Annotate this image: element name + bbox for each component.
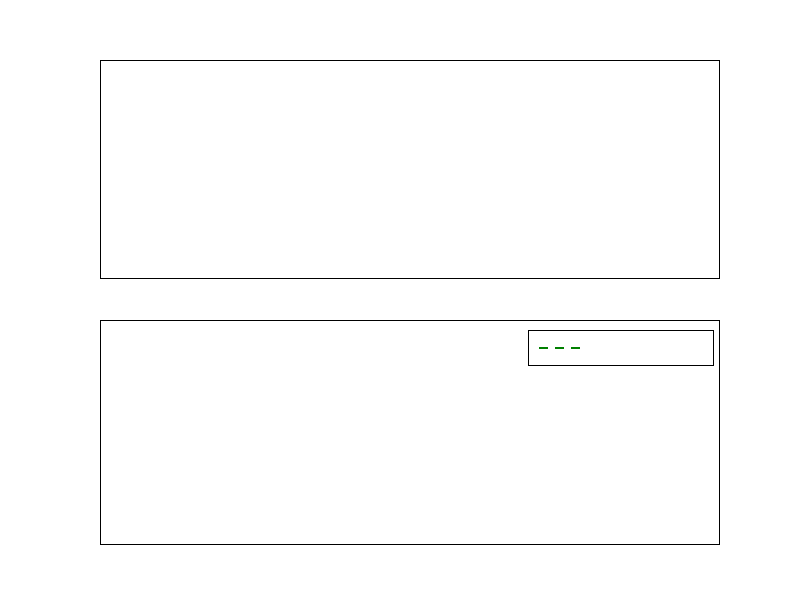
mag-limit-legend-line-icon [539, 347, 583, 349]
legend[interactable] [528, 330, 714, 366]
histogram-plot [101, 61, 719, 278]
figure-canvas [0, 0, 800, 600]
top-panel-histogram-axes [100, 60, 720, 279]
